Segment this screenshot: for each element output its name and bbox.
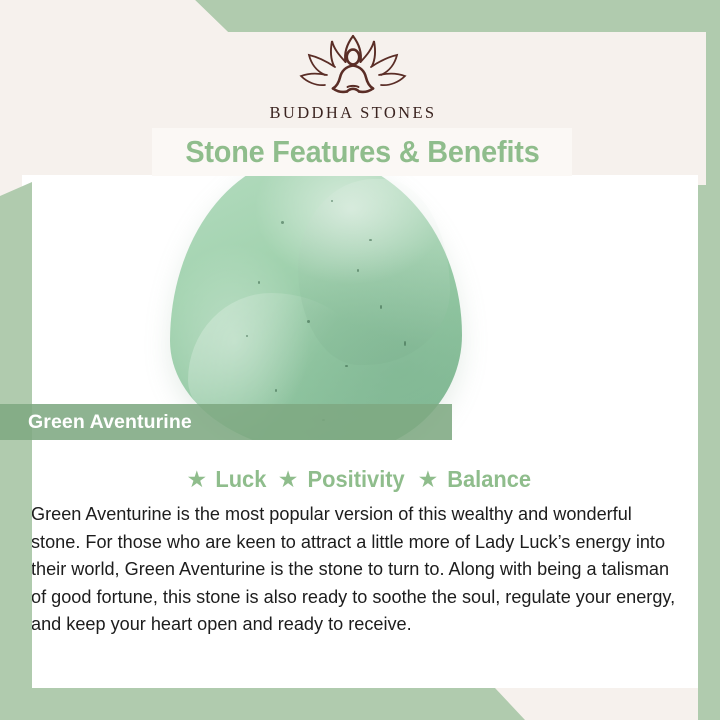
stone-speck — [331, 200, 333, 202]
star-icon: ★ — [418, 468, 439, 491]
page-title: Stone Features & Benefits — [185, 134, 539, 170]
left-accent-band — [0, 182, 32, 720]
stone-speck — [357, 269, 359, 272]
benefit-luck: ★ Luck — [186, 466, 267, 493]
stone-benefits-infographic: BUDDHA STONES Stone Features & Benefits … — [0, 0, 720, 720]
stone-speck — [404, 341, 406, 346]
star-icon: ★ — [186, 468, 207, 491]
star-icon: ★ — [278, 468, 299, 491]
stone-speck — [369, 239, 372, 241]
title-banner: Stone Features & Benefits — [152, 128, 572, 176]
bottom-accent-band — [0, 688, 720, 720]
stone-speck — [246, 335, 248, 337]
benefit-balance: ★ Balance — [418, 466, 534, 493]
description-paragraph: Green Aventurine is the most popular ver… — [31, 500, 683, 638]
stone-photo — [22, 175, 698, 440]
benefit-positivity: ★ Positivity — [278, 466, 408, 493]
benefits-row: ★ Luck ★ Positivity ★ Balance — [22, 466, 698, 493]
stone-caption-band: Green Aventurine — [0, 404, 452, 440]
stone-speck — [281, 221, 284, 224]
description-section: ★ Luck ★ Positivity ★ Balance Green Aven… — [22, 440, 698, 688]
stone-speck — [258, 281, 260, 284]
brand-wordmark: BUDDHA STONES — [0, 103, 706, 123]
benefit-label: Luck — [215, 466, 266, 493]
stone-name-label: Green Aventurine — [28, 411, 192, 434]
benefit-label: Positivity — [308, 466, 405, 493]
green-aventurine-stone-image — [170, 175, 462, 440]
brand-logo: BUDDHA STONES — [0, 28, 706, 123]
lotus-meditation-figure-icon — [278, 28, 428, 100]
stone-facet — [298, 179, 450, 365]
benefit-label: Balance — [448, 466, 532, 493]
